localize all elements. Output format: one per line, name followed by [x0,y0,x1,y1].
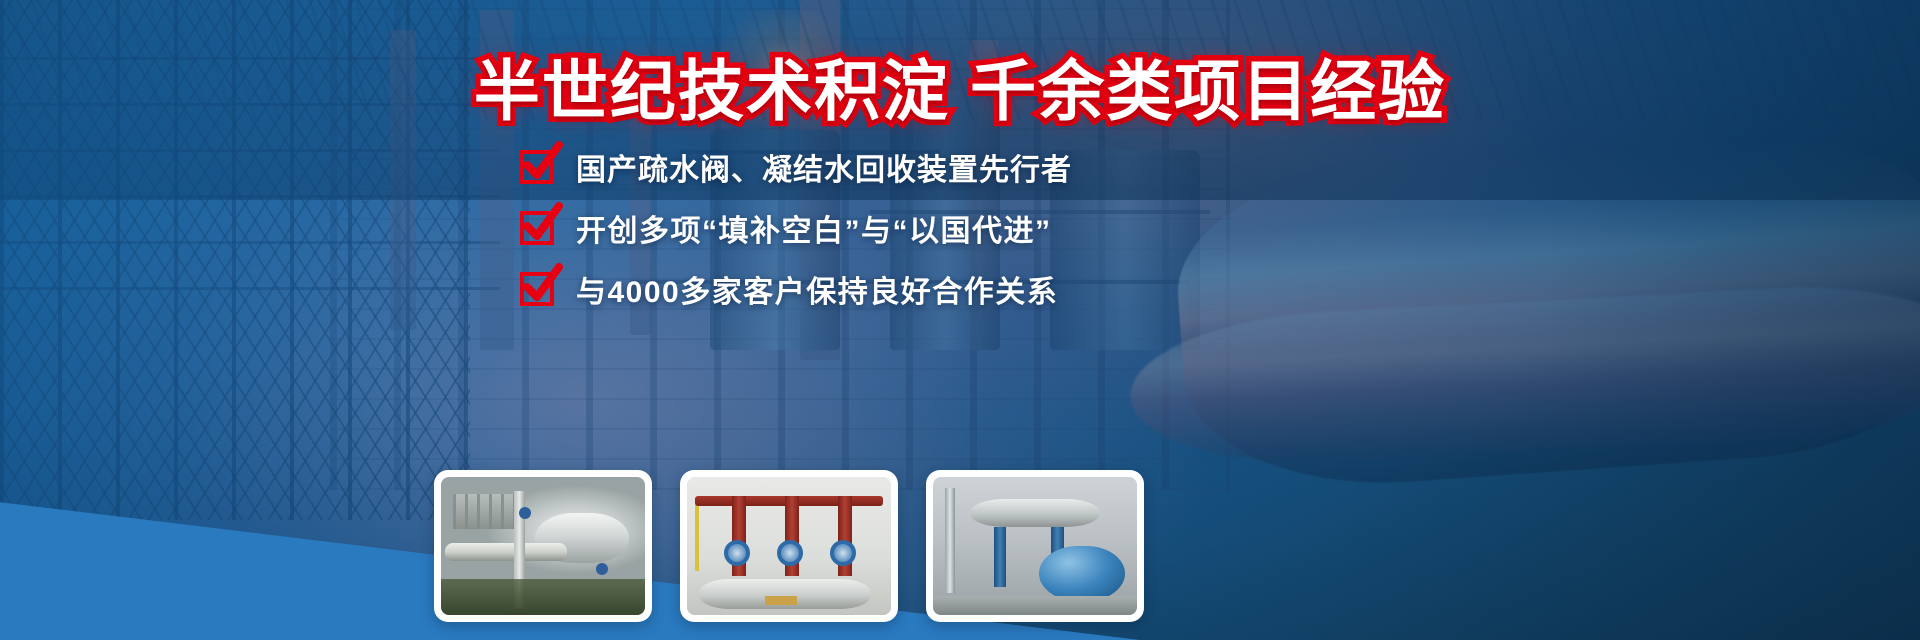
headline-container: 半世纪技术积淀 千余类项目经验 [0,38,1920,134]
photo-detail-yellow-pipe [695,502,699,571]
list-item-label: 与4000多家客户保持良好合作关系 [576,267,1058,311]
photo-condensate-recovery-vessel [441,477,645,615]
page-title: 半世纪技术积淀 千余类项目经验 [474,38,1446,134]
photo-detail-support [994,527,1006,588]
checkbox-checked-icon [520,211,554,245]
photo-red-pipework-valves [687,477,891,615]
photo-card[interactable] [926,470,1144,622]
photo-blue-tank-skid [933,477,1137,615]
list-item-label: 国产疏水阀、凝结水回收装置先行者 [576,145,1072,189]
photo-detail-floor [933,596,1137,615]
feature-bullet-list: 国产疏水阀、凝结水回收装置先行者 开创多项“填补空白”与“以国代进” 与4000… [520,145,1072,311]
list-item: 与4000多家客户保持良好合作关系 [520,267,1072,311]
checkbox-checked-icon [520,150,554,184]
photo-detail-valve [596,563,608,575]
photo-card[interactable] [680,470,898,622]
list-item: 开创多项“填补空白”与“以国代进” [520,206,1072,250]
photo-detail-pipe [445,543,567,561]
list-item-label: 开创多项“填补空白”与“以国代进” [576,206,1052,250]
promo-banner: 半世纪技术积淀 千余类项目经验 国产疏水阀、凝结水回收装置先行者 开创多项“填补… [0,0,1920,640]
photo-detail-vessel [970,499,1101,527]
photo-detail-nameplate [765,596,798,606]
photo-card[interactable] [434,470,652,622]
photo-card-row [434,470,1144,622]
photo-detail-pipe [945,488,955,593]
photo-detail-valve [519,507,531,519]
checkbox-checked-icon [520,272,554,306]
photo-detail-rack [453,494,514,530]
photo-detail-ground [441,579,645,615]
list-item: 国产疏水阀、凝结水回收装置先行者 [520,145,1072,189]
photo-detail-blue-tank [1039,546,1125,601]
